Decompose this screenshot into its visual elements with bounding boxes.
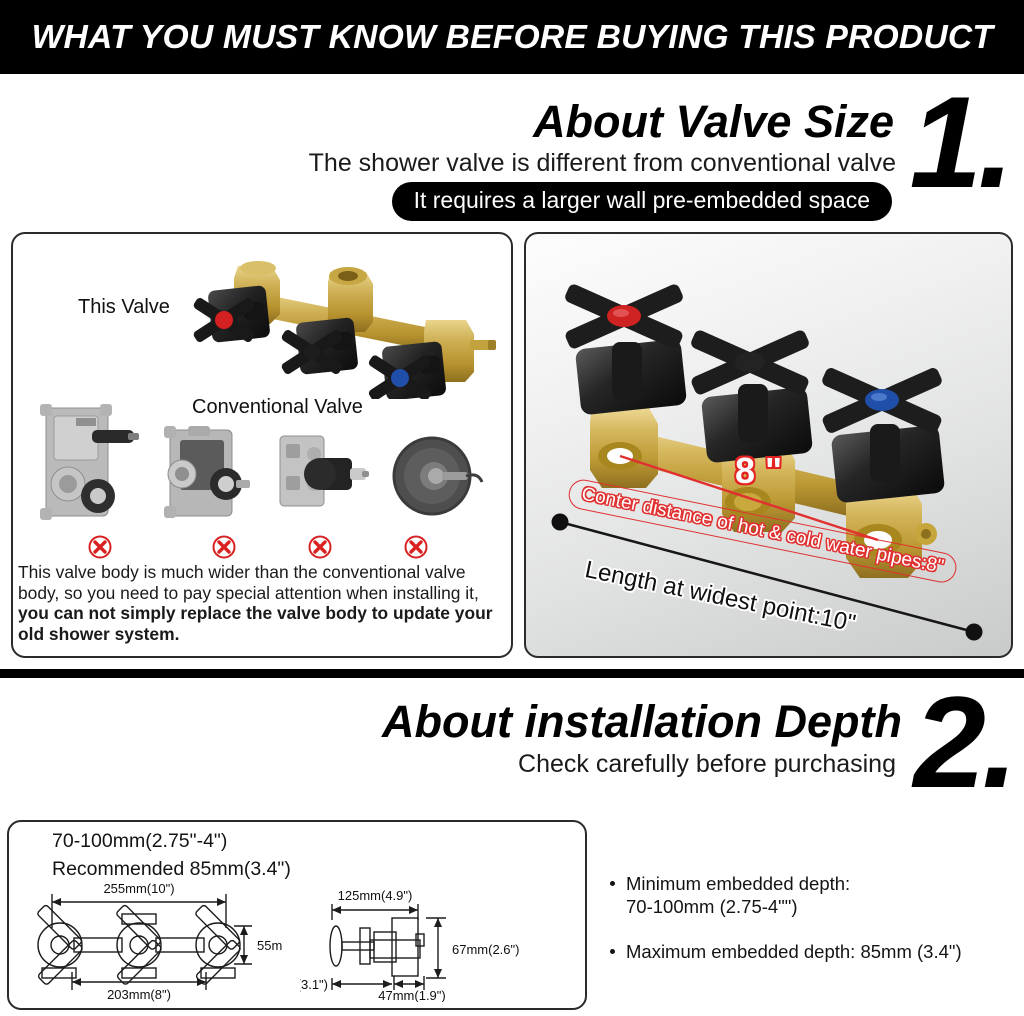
this-valve-image xyxy=(188,244,498,399)
conventional-valve-thumb-4 xyxy=(388,428,488,524)
front-view-center-to-center: 203mm(8") xyxy=(107,987,171,1002)
side-view-drawing: 125mm(4.9") 67mm(2.6") 80mm(3.1") 47mm(1… xyxy=(300,880,576,1002)
front-view-overall-width: 255mm(10") xyxy=(103,881,174,896)
section-divider xyxy=(0,669,1024,678)
section2-number: 2. xyxy=(914,692,1014,793)
section1-badge: It requires a larger wall pre-embedded s… xyxy=(392,182,892,221)
valve-warning-note-plain: This valve body is much wider than the c… xyxy=(18,562,479,603)
label-this-valve: This Valve xyxy=(78,296,170,319)
side-view-body-depth: 47mm(1.9") xyxy=(378,988,445,1002)
top-banner-text: WHAT YOU MUST KNOW BEFORE BUYING THIS PR… xyxy=(31,18,993,56)
side-view-body-height: 67mm(2.6") xyxy=(452,942,519,957)
section2-subtitle: Check carefully before purchasing xyxy=(518,750,896,779)
reject-x-icon-3 xyxy=(308,535,332,559)
front-view-height: 55mm(2.2") xyxy=(257,938,282,953)
center-distance-value: 8 " xyxy=(735,450,782,492)
reject-x-icon-2 xyxy=(212,535,236,559)
list-item: Minimum embedded depth: 70-100mm (2.75-4… xyxy=(608,872,1014,918)
top-banner: WHAT YOU MUST KNOW BEFORE BUYING THIS PR… xyxy=(0,0,1024,74)
side-view-handle-projection: 125mm(4.9") xyxy=(338,888,413,903)
section2-title: About installation Depth xyxy=(382,696,902,748)
section1-subtitle: The shower valve is different from conve… xyxy=(309,149,896,178)
depth-recommended-text: Recommended 85mm(3.4") xyxy=(52,858,291,881)
section1-title: About Valve Size xyxy=(533,96,894,148)
valve-warning-note-bold: you can not simply replace the valve bod… xyxy=(18,603,493,644)
section1-number: 1. xyxy=(910,92,1010,193)
side-view-left-offset: 80mm(3.1") xyxy=(300,977,328,992)
conventional-valve-thumb-1 xyxy=(36,400,141,530)
list-item: Maximum embedded depth: 85mm (3.4") xyxy=(608,940,1014,963)
conventional-valve-thumb-3 xyxy=(274,428,370,524)
reject-x-icon-1 xyxy=(88,535,112,559)
depth-range-text: 70-100mm(2.75"-4") xyxy=(52,830,227,853)
section1-header: 1. About Valve Size The shower valve is … xyxy=(0,74,1024,226)
label-conventional-valve: Conventional Valve xyxy=(192,396,363,419)
section2-header: 2. About installation Depth Check carefu… xyxy=(0,678,1024,810)
depth-bullet-list: Minimum embedded depth: 70-100mm (2.75-4… xyxy=(608,872,1014,985)
reject-x-icon-4 xyxy=(404,535,428,559)
valve-warning-note: This valve body is much wider than the c… xyxy=(18,562,500,644)
front-view-drawing: 255mm(10") 203mm(8") 55mm(2.2") xyxy=(22,880,282,1002)
conventional-valve-thumb-2 xyxy=(158,420,258,530)
